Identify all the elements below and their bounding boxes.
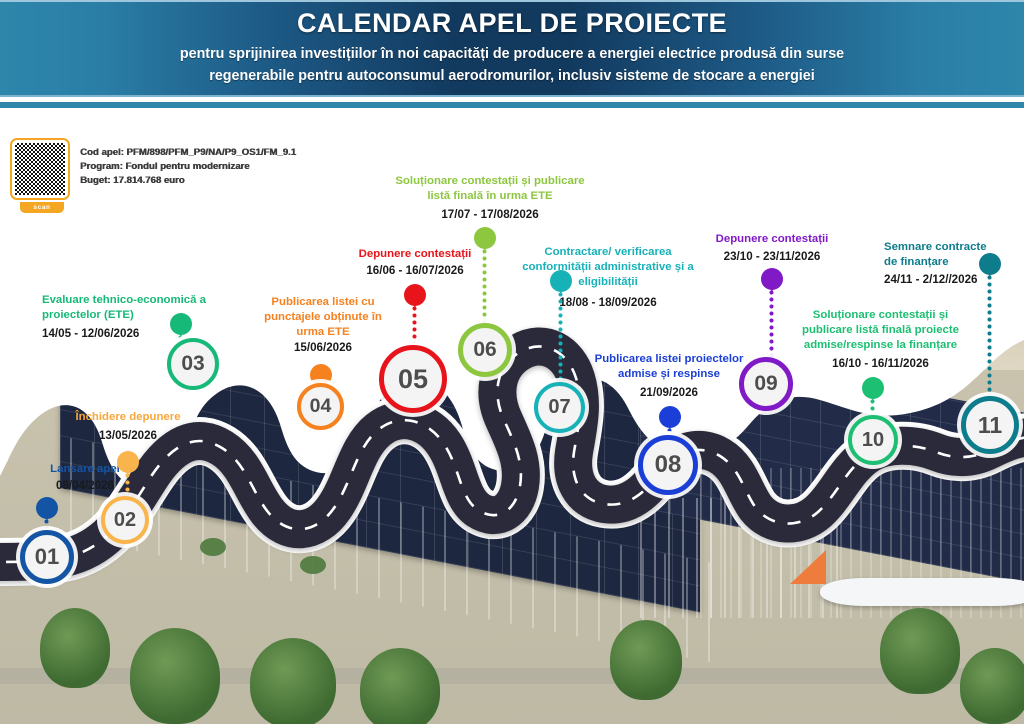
qr-scan-label: scan (20, 202, 64, 213)
milestone-02-label: Închidere depunere (48, 410, 208, 425)
milestone-01-pin-icon (36, 497, 58, 519)
milestone-08-badge[interactable]: 08 (638, 435, 698, 495)
milestone-10-dots (870, 398, 875, 415)
budget-line: Buget: 17.814.768 euro (80, 174, 296, 188)
milestone-03-date: 14/05 - 12/06/2026 (42, 326, 252, 341)
milestone-05-date: 16/06 - 16/07/2026 (325, 263, 505, 278)
milestone-01-badge[interactable]: 01 (20, 530, 74, 584)
milestone-10-date: 16/10 - 16/11/2026 (788, 356, 973, 371)
milestone-06-pin-icon (474, 227, 496, 249)
qr-code-icon[interactable]: scan (10, 138, 70, 200)
program-line: Program: Fondul pentru modernizare (80, 160, 296, 174)
milestone-03-badge[interactable]: 03 (167, 338, 219, 390)
milestone-09-label: Depunere contestații (688, 232, 856, 247)
milestone-04-label: Publicarea listei cu punctajele obținute… (248, 295, 398, 340)
milestone-10-pin-icon (862, 377, 884, 399)
milestone-09-date: 23/10 - 23/11/2026 (688, 249, 856, 264)
milestone-07-date: 18/08 - 18/09/2026 (508, 295, 708, 310)
call-code-line: Cod apel: PFM/898/PFM_P9/NA/P9_OS1/FM_9.… (80, 146, 296, 160)
milestone-07-label: Contractare/ verificarea conformității a… (508, 245, 708, 290)
milestone-06-dots (482, 248, 487, 326)
milestone-08-pin-icon (659, 406, 681, 428)
milestone-01-date: 08/04/2026 (10, 478, 160, 493)
milestone-04-badge[interactable]: 04 (297, 383, 344, 430)
milestone-10-label: Soluționare contestații și publicare lis… (788, 308, 973, 353)
milestone-09-pin-icon (761, 268, 783, 290)
milestone-11-pin-icon (979, 253, 1001, 275)
milestone-05-badge[interactable]: 05 (379, 345, 447, 413)
milestone-06-badge[interactable]: 06 (458, 323, 512, 377)
milestone-04-date: 15/06/2026 (248, 340, 398, 355)
milestone-11-dots (987, 274, 992, 400)
milestone-03-pin-icon (170, 313, 192, 335)
milestone-10-badge[interactable]: 10 (848, 415, 898, 465)
milestone-03-label: Evaluare tehnico-economică a proiectelor… (42, 293, 252, 323)
milestone-05-dots (412, 305, 417, 343)
milestone-02-badge[interactable]: 02 (101, 496, 149, 544)
milestone-11-badge[interactable]: 11 (961, 396, 1019, 454)
milestone-05-label: Depunere contestații (325, 247, 505, 262)
milestone-11-date: 24/11 - 2/12//2026 (884, 272, 1024, 287)
milestone-02-pin-icon (117, 451, 139, 473)
milestone-05-pin-icon (404, 284, 426, 306)
call-info-block: scan Cod apel: PFM/898/PFM_P9/NA/P9_OS1/… (10, 138, 296, 200)
milestone-06-date: 17/07 - 17/08/2026 (355, 207, 625, 222)
milestone-01-dots (44, 518, 49, 528)
milestone-06-label: Soluționare contestații și publicare lis… (355, 174, 625, 204)
milestone-09-badge[interactable]: 09 (739, 357, 793, 411)
milestone-07-pin-icon (550, 270, 572, 292)
milestone-11-label: Semnare contracte de finanțare (884, 240, 1024, 270)
milestone-09-dots (769, 289, 774, 358)
milestone-02-date: 13/05/2026 (48, 428, 208, 443)
milestone-02-dots (125, 472, 130, 494)
